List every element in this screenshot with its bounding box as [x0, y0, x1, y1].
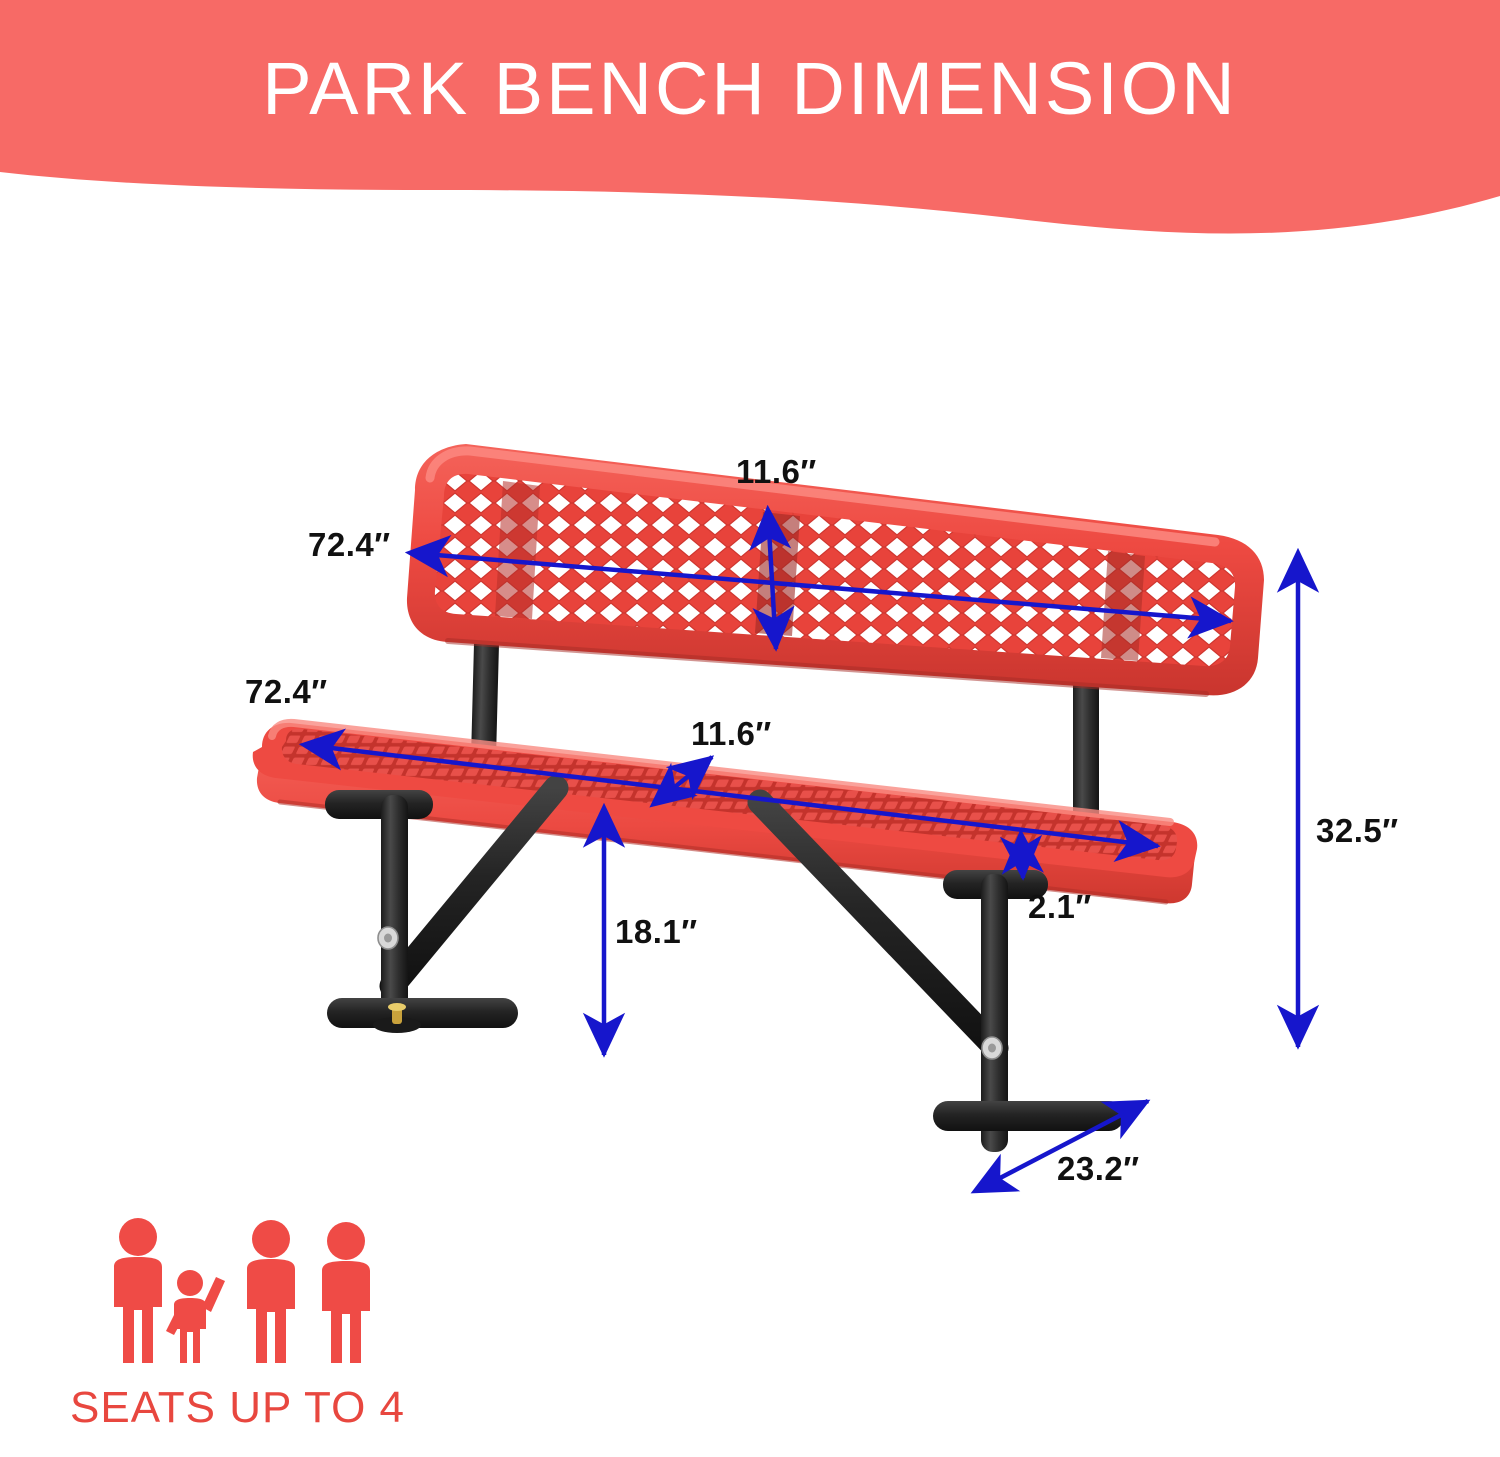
header-banner: PARK BENCH DIMENSION: [0, 0, 1500, 250]
dim-label-backrest-height: 11.6″: [736, 453, 817, 491]
adult-figure-icon: [114, 1218, 162, 1363]
dim-label-seat-height: 18.1″: [615, 913, 698, 951]
brace-bolt-left: [378, 927, 398, 949]
dim-label-foot-depth: 23.2″: [1057, 1150, 1140, 1188]
bench-backrest: [407, 444, 1264, 695]
people-icons: [98, 1215, 458, 1375]
dim-label-seat-depth: 11.6″: [691, 715, 772, 753]
dim-label-seat-thickness: 2.1″: [1028, 888, 1092, 926]
child-figure-icon: [166, 1270, 225, 1363]
dim-arrow-seat-thickness: [1021, 836, 1023, 878]
adult-figure-icon: [247, 1220, 295, 1363]
capacity-block: SEATS UP TO 4: [70, 1215, 490, 1445]
brace-bolt-right: [982, 1037, 1002, 1059]
adult-figure-icon: [322, 1222, 370, 1363]
bench-leg-left: [325, 788, 556, 1033]
dim-label-overall-height: 32.5″: [1316, 812, 1399, 850]
product-dimension-infographic: PARK BENCH DIMENSION: [0, 0, 1500, 1457]
dim-label-seat-length: 72.4″: [245, 673, 328, 711]
page-title: PARK BENCH DIMENSION: [0, 44, 1500, 134]
bench-diagram: 72.4″ 11.6″ 72.4″ 11.6″ 2.1″ 18.1″ 32.5″…: [0, 250, 1500, 1240]
capacity-caption: SEATS UP TO 4: [70, 1383, 470, 1433]
dim-label-backrest-length: 72.4″: [308, 526, 391, 564]
